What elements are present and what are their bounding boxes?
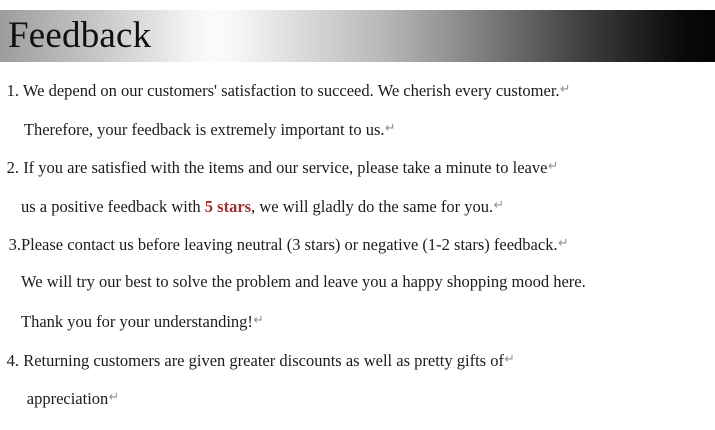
item-3-line-3: Thank you for your understanding!↵ [0,301,683,340]
item-1-line-1-text: 1. We depend on our customers' satisfact… [7,81,560,100]
feedback-text-body: 1. We depend on our customers' satisfact… [0,70,715,417]
paragraph-return-icon: ↵ [504,351,515,366]
paragraph-return-icon: ↵ [547,158,558,173]
feedback-header-banner: Feedback [0,10,715,62]
item-1-line-2: Therefore, your feedback is extremely im… [0,109,683,148]
item-2-line-1-text: 2. If you are satisfied with the items a… [7,158,548,177]
paragraph-return-icon: ↵ [253,312,264,327]
item-4-line-1: 4. Returning customers are given greater… [0,340,683,379]
item-2-line-2-text-before: us a positive feedback with [21,197,205,216]
item-4-line-2: appreciation↵ [0,378,683,417]
item-1-line-2-text: Therefore, your feedback is extremely im… [24,120,385,139]
item-3-line-3-text: Thank you for your understanding! [21,312,253,331]
item-2-line-2-text-after: , we will gladly do the same for you. [251,197,493,216]
paragraph-return-icon: ↵ [560,81,571,96]
item-2-line-2: us a positive feedback with 5 stars, we … [0,186,683,225]
paragraph-return-icon: ↵ [493,197,504,212]
item-4-line-2-text: appreciation [27,389,109,408]
item-3-line-2-text: We will try our best to solve the proble… [21,272,586,291]
star-rating-emphasis: 5 stars [205,197,251,216]
feedback-page: Feedback 1. We depend on our customers' … [0,0,715,430]
item-3-line-1-text: 3.Please contact us before leaving neutr… [9,235,558,254]
item-4-line-1-text: 4. Returning customers are given greater… [7,351,504,370]
paragraph-return-icon: ↵ [108,389,119,404]
paragraph-return-icon: ↵ [558,235,569,250]
item-3-line-1: 3.Please contact us before leaving neutr… [0,224,683,263]
item-2-line-1: 2. If you are satisfied with the items a… [0,147,683,186]
paragraph-return-icon: ↵ [385,120,396,135]
item-3-line-2: We will try our best to solve the proble… [0,263,683,302]
page-title: Feedback [8,17,151,54]
item-1-line-1: 1. We depend on our customers' satisfact… [0,70,683,109]
